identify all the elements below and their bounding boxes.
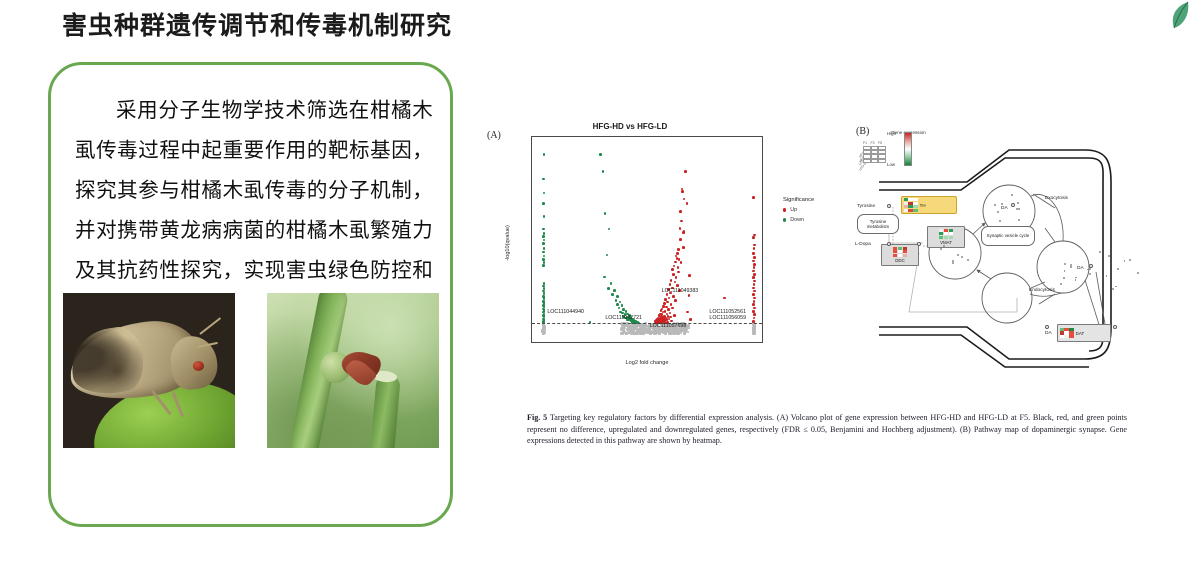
- figure-caption: Fig. 5 Targeting key regulatory factors …: [527, 412, 1127, 447]
- data-point-up: [753, 283, 756, 286]
- data-point-down: [607, 287, 610, 290]
- heatmap-cell: [1064, 335, 1068, 338]
- data-point-up: [752, 310, 755, 313]
- table-column-header: F1: [863, 141, 867, 145]
- data-point-down: [543, 215, 546, 218]
- data-point-up: [673, 265, 676, 268]
- vesicle-dot: [1001, 203, 1003, 205]
- photo-row: [51, 293, 450, 448]
- heatmap-cell: [949, 236, 953, 239]
- data-point-up: [752, 276, 755, 279]
- heatmap-cell: [903, 254, 907, 257]
- page-title: 害虫种群遗传调节和传毒机制研究: [62, 6, 452, 42]
- data-point-up: [679, 227, 682, 230]
- data-point-up: [673, 314, 676, 317]
- th-gene-label: TH: [920, 203, 926, 208]
- data-point-up: [753, 280, 756, 283]
- data-point-ns: [753, 329, 756, 332]
- data-point-up: [672, 295, 675, 298]
- data-point-up: [680, 220, 683, 223]
- data-point-up: [753, 290, 756, 293]
- heatmap-cell: [1060, 335, 1064, 338]
- data-point-down: [610, 282, 613, 285]
- vesicle-dot: [1064, 263, 1066, 265]
- legend-label: Up: [790, 207, 797, 213]
- data-point-up: [676, 284, 679, 287]
- chart-legend: Significance UpDown: [783, 197, 843, 227]
- data-point-down: [608, 228, 611, 231]
- significance-threshold-line: [532, 323, 762, 324]
- plot-area: 05101520-20020LOC111044940LOC111042721LO…: [531, 136, 763, 343]
- expression-colorbar: [904, 132, 912, 166]
- data-point-ns: [643, 326, 646, 329]
- data-point-ns: [651, 332, 654, 335]
- data-point-ns: [687, 331, 690, 334]
- data-point-ns: [668, 332, 671, 335]
- data-point-up: [678, 258, 681, 261]
- data-point-up: [752, 196, 755, 199]
- tyrosine-node-dot: [887, 204, 891, 208]
- da-node-dot-2: [1011, 203, 1015, 207]
- data-point-up: [753, 247, 756, 250]
- endocytosis-label: Endocytosis: [1029, 288, 1055, 293]
- data-point-ns: [753, 333, 756, 336]
- y-axis-tick-mark: [531, 292, 532, 293]
- caption-figure-number: Fig. 5: [527, 413, 547, 422]
- synaptic-vesicle-cycle-node[interactable]: Synaptic vesicle cycle: [981, 226, 1035, 246]
- gene-annotation-label: LOC111057698: [650, 323, 687, 329]
- data-point-up: [677, 248, 680, 251]
- data-point-up: [669, 283, 672, 286]
- data-point-up: [671, 268, 674, 271]
- vesicle-dot: [957, 254, 959, 256]
- gene-annotation-label: LOC111049383: [662, 288, 699, 294]
- data-point-down: [621, 304, 624, 307]
- data-point-up: [674, 299, 677, 302]
- data-point-up: [686, 202, 689, 205]
- data-point-up: [677, 266, 680, 269]
- heatmap-cell: [904, 209, 908, 212]
- da-label-4: DA: [1045, 331, 1052, 336]
- data-point-up: [753, 297, 756, 300]
- y-axis-tick-mark: [531, 166, 532, 167]
- data-point-up: [689, 318, 692, 321]
- heatmap-cell: [898, 254, 902, 257]
- data-point-up: [752, 293, 755, 296]
- vesicle-dot: [1070, 266, 1072, 268]
- data-point-down: [543, 255, 546, 258]
- data-point-up: [670, 303, 673, 306]
- dat-heatmap: [1060, 328, 1074, 339]
- table-cell: [878, 159, 886, 163]
- psyllid-on-shoot-photo: [267, 293, 439, 448]
- data-point-up: [669, 312, 672, 315]
- data-point-ns: [639, 327, 642, 330]
- data-point-up: [681, 190, 684, 193]
- legend-title: Significance: [783, 197, 843, 203]
- x-axis-label: Log2 fold change: [531, 360, 763, 366]
- data-point-ns: [627, 332, 630, 335]
- vesicle-dot: [952, 262, 954, 264]
- data-point-down: [542, 228, 545, 231]
- data-point-up: [752, 270, 755, 273]
- x-axis-tick-mark: [580, 342, 581, 343]
- data-point-up: [683, 230, 686, 233]
- heatmap-cell: [908, 209, 912, 212]
- data-point-up: [753, 273, 756, 276]
- data-point-ns: [622, 328, 625, 331]
- data-point-up: [683, 198, 686, 201]
- x-axis-tick-mark: [648, 342, 649, 343]
- data-point-down: [543, 232, 546, 235]
- vesicle-dot: [940, 248, 942, 250]
- data-point-down: [615, 299, 618, 302]
- data-point-ns: [632, 328, 635, 331]
- data-point-up: [670, 320, 673, 323]
- legend-label: Down: [790, 217, 804, 223]
- data-point-up: [723, 297, 726, 300]
- data-point-up: [672, 273, 675, 276]
- data-point-down: [543, 153, 546, 156]
- legend-swatch: [783, 218, 786, 221]
- exocytosis-label: Exocytosis: [1045, 196, 1068, 201]
- data-point-ns: [620, 332, 623, 335]
- vesicle-dot: [961, 256, 963, 258]
- y-axis-tick-mark: [531, 250, 532, 251]
- tyrosine-label: Tyrosine: [857, 204, 875, 209]
- table-column-header: F5: [878, 141, 882, 145]
- data-point-ns: [630, 333, 633, 336]
- data-point-ns: [672, 330, 675, 333]
- y-axis-tick-mark: [531, 334, 532, 335]
- gene-annotation-label: LOC111056059: [709, 315, 746, 321]
- data-point-up: [680, 261, 683, 264]
- data-point-up: [752, 236, 755, 239]
- data-point-down: [599, 153, 602, 156]
- data-point-up: [753, 256, 756, 259]
- vesicle-dot: [1063, 277, 1065, 279]
- data-point-ns: [753, 324, 756, 327]
- data-point-down: [618, 307, 621, 310]
- data-point-up: [682, 246, 685, 249]
- data-point-up: [688, 274, 691, 277]
- data-point-ns: [687, 324, 690, 327]
- data-point-ns: [627, 327, 630, 330]
- data-point-up: [752, 287, 755, 290]
- vmat-heatmap: [939, 229, 953, 240]
- psyllid-adult-photo: [63, 293, 235, 448]
- vesicle-dot: [1089, 273, 1091, 275]
- legend-low-label: Low: [887, 162, 895, 167]
- data-point-up: [675, 276, 678, 279]
- da-label-1: DA: [1001, 206, 1008, 211]
- table-cell: [863, 159, 871, 163]
- gene-annotation-label: LOC111052561: [709, 309, 746, 315]
- vesicle-dot: [999, 220, 1001, 222]
- y-axis-tick-mark: [531, 208, 532, 209]
- vesicle-dot: [952, 260, 954, 262]
- data-point-down: [616, 303, 619, 306]
- data-point-up: [674, 261, 677, 264]
- legend-item-down[interactable]: Down: [783, 217, 843, 223]
- y-axis-label: -log10(qvalue): [505, 208, 511, 278]
- table-cell: [871, 159, 879, 163]
- ldopa-node-dot: [887, 242, 891, 246]
- da-label-3: DA: [1077, 266, 1084, 271]
- data-point-up: [679, 210, 682, 213]
- data-point-down: [543, 192, 546, 195]
- data-point-down: [542, 258, 545, 261]
- data-point-down: [542, 251, 545, 254]
- vesicle-dot: [1017, 202, 1019, 204]
- heatmap-cell: [913, 209, 917, 212]
- data-point-up: [752, 252, 755, 255]
- data-point-down: [604, 212, 607, 215]
- data-point-up: [684, 170, 687, 173]
- pathway-map: Gene expression High Low F1F3F5HFG-LDHFG…: [849, 122, 1142, 387]
- gene-annotation-label: LOC111044940: [547, 309, 584, 315]
- data-point-ns: [635, 331, 638, 334]
- table-column-header: F3: [871, 141, 875, 145]
- data-point-down: [611, 293, 614, 296]
- vmat-gene-label: VMAT: [940, 240, 952, 245]
- data-point-up: [679, 238, 682, 241]
- data-point-up: [671, 307, 674, 310]
- da-node-dot-5: [1113, 325, 1117, 329]
- ddc-gene-label: DDC: [895, 258, 905, 263]
- heatmap-cell: [939, 236, 943, 239]
- data-point-down: [543, 247, 546, 250]
- data-point-down: [606, 254, 609, 257]
- vesicle-dot: [1099, 251, 1101, 253]
- data-point-down: [616, 295, 619, 298]
- heatmap-cell: [944, 236, 948, 239]
- data-point-up: [686, 311, 689, 314]
- data-point-up: [667, 308, 670, 311]
- data-point-up: [753, 317, 756, 320]
- data-point-up: [753, 300, 756, 303]
- data-point-up: [668, 297, 671, 300]
- data-point-up: [753, 313, 756, 316]
- vesicle-dot: [943, 245, 945, 247]
- caption-text: Targeting key regulatory factors by diff…: [527, 413, 1127, 445]
- data-point-up: [670, 279, 673, 282]
- vmat-gene-box[interactable]: VMAT: [927, 226, 965, 248]
- data-point-up: [753, 307, 756, 310]
- data-point-down: [543, 239, 546, 242]
- data-point-down: [602, 170, 605, 173]
- volcano-plot: HFG-HD vs HFG-LD 05101520-20020LOC111044…: [495, 122, 840, 387]
- th-gene-box[interactable]: TH: [901, 196, 957, 214]
- th-heatmap: [904, 198, 918, 212]
- ddc-gene-box[interactable]: DDC: [881, 244, 919, 266]
- tyrosine-metabolism-node[interactable]: Tyrosine metabolism: [857, 214, 899, 234]
- vesicle-dot: [1089, 268, 1091, 270]
- data-point-ns: [658, 332, 661, 335]
- legend-high-label: High: [887, 131, 896, 136]
- dat-gene-box[interactable]: DAT: [1057, 324, 1111, 342]
- data-point-up: [752, 303, 755, 306]
- data-point-ns: [663, 332, 666, 335]
- data-point-down: [542, 264, 545, 267]
- vesicle-dot: [1018, 208, 1020, 210]
- data-point-up: [674, 281, 677, 284]
- data-point-down: [613, 289, 616, 292]
- data-point-down: [542, 242, 545, 245]
- legend-swatch: [783, 208, 786, 211]
- data-point-up: [666, 301, 669, 304]
- data-point-down: [603, 276, 606, 279]
- dat-gene-label: DAT: [1076, 331, 1084, 336]
- vesicle-dot: [994, 204, 996, 206]
- legend-item-up[interactable]: Up: [783, 207, 843, 213]
- heatmap-cell: [1069, 335, 1073, 338]
- data-point-down: [542, 202, 545, 205]
- data-point-up: [752, 260, 755, 263]
- data-point-down: [619, 301, 622, 304]
- da-node-dot-1: [917, 242, 921, 246]
- chart-title: HFG-HD vs HFG-LD: [495, 122, 765, 131]
- data-point-up: [753, 244, 756, 247]
- heatmap-cell: [893, 254, 897, 257]
- ldopa-label: L-Dopa: [855, 242, 871, 247]
- slide-page: 害虫种群遗传调节和传毒机制研究 采用分子生物学技术筛选在柑橘木虱传毒过程中起重要…: [0, 0, 1200, 571]
- sample-table: F1F3F5HFG-LDHFG-HDLFG-LDLFG-HD: [852, 136, 886, 160]
- x-axis-tick-mark: [716, 342, 717, 343]
- data-point-up: [753, 266, 756, 269]
- data-point-up: [677, 271, 680, 274]
- content-card: 采用分子生物学技术筛选在柑橘木虱传毒过程中起重要作用的靶标基因，探究其参与柑橘木…: [48, 62, 453, 527]
- da-node-dot-4: [1045, 325, 1049, 329]
- data-point-up: [753, 263, 756, 266]
- data-point-up: [688, 294, 691, 297]
- data-point-ns: [635, 326, 638, 329]
- data-point-down: [542, 235, 545, 238]
- ddc-heatmap: [893, 247, 907, 258]
- leaf-icon: [1168, 0, 1194, 38]
- gene-annotation-label: LOC111042721: [605, 315, 642, 321]
- data-point-down: [542, 178, 545, 181]
